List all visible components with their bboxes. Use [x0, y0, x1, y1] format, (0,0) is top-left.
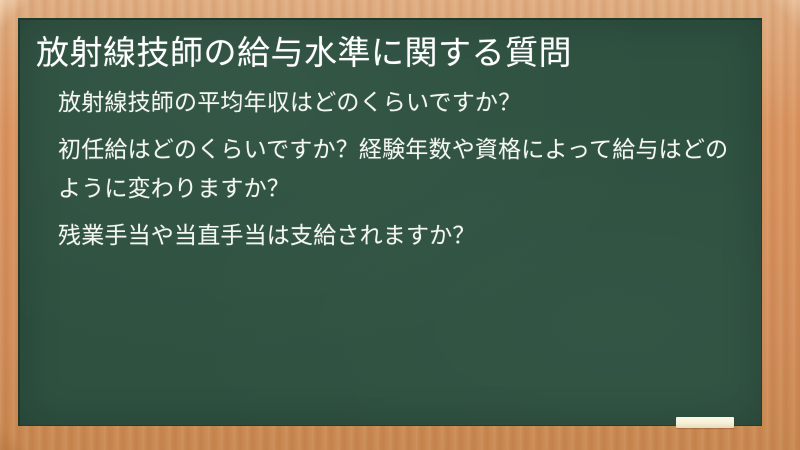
chalk-icon — [676, 417, 734, 428]
chalkboard-content: 放射線技師の給与水準に関する質問 放射線技師の平均年収はどのくらいですか？ 初任… — [20, 20, 761, 256]
question-list: 放射線技師の平均年収はどのくらいですか？ 初任給はどのくらいですか？経験年数や資… — [36, 84, 747, 256]
chalkboard-surface: 放射線技師の給与水準に関する質問 放射線技師の平均年収はどのくらいですか？ 初任… — [18, 18, 762, 426]
page-title: 放射線技師の給与水準に関する質問 — [36, 30, 747, 76]
list-item: 放射線技師の平均年収はどのくらいですか？ — [58, 84, 741, 123]
list-item: 残業手当や当直手当は支給されますか？ — [58, 217, 741, 256]
list-item: 初任給はどのくらいですか？経験年数や資格によって給与はどのように変わりますか？ — [58, 131, 741, 209]
blackboard-scene: 放射線技師の給与水準に関する質問 放射線技師の平均年収はどのくらいですか？ 初任… — [0, 0, 800, 450]
